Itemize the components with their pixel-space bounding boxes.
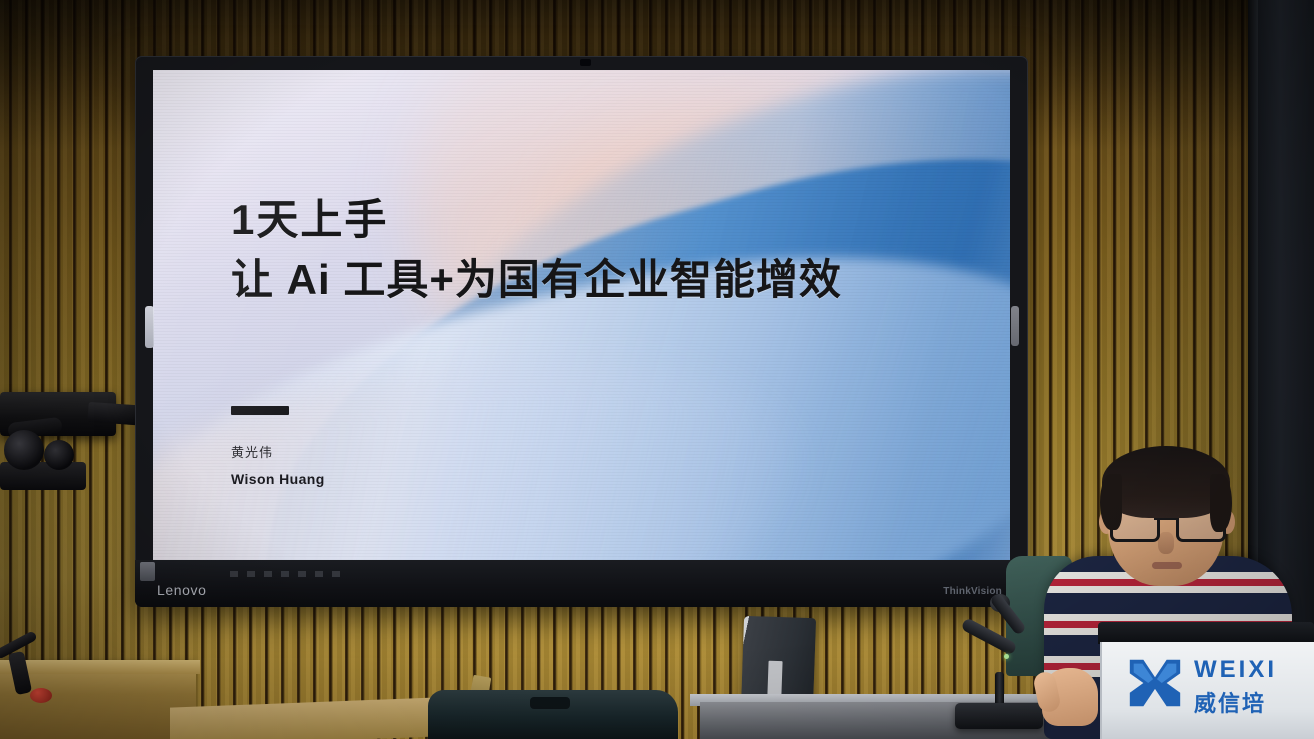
slide-title-line1: 1天上手 bbox=[231, 198, 971, 243]
laptop-brand-latin: WEIXI bbox=[1194, 656, 1277, 684]
weixin-w-logo-icon bbox=[1124, 652, 1186, 714]
presenter-hair-side-right bbox=[1210, 474, 1232, 532]
shirt-stripe bbox=[1044, 586, 1292, 593]
slide-title-block: 1天上手 让 Ai 工具+为国有企业智能增效 bbox=[231, 198, 971, 304]
microphone-base[interactable] bbox=[955, 703, 1043, 729]
slide-byline: 黄光伟 Wison Huang bbox=[231, 442, 325, 487]
presenter-name-en: Wison Huang bbox=[231, 471, 325, 487]
display-screen: 1天上手 让 Ai 工具+为国有企业智能增效 黄光伟 Wison Huang bbox=[153, 70, 1010, 560]
podium-surface bbox=[0, 660, 200, 674]
presentation-display: 1天上手 让 Ai 工具+为国有企业智能增效 黄光伟 Wison Huang L… bbox=[135, 56, 1028, 607]
microphone-status-led bbox=[1004, 654, 1009, 659]
slide-canvas: 1天上手 让 Ai 工具+为国有企业智能增效 黄光伟 Wison Huang bbox=[153, 70, 1010, 560]
display-side-button[interactable] bbox=[145, 306, 154, 348]
presenter-mouth bbox=[1152, 562, 1182, 569]
laptop-brand-cn: 威信培 bbox=[1194, 686, 1266, 718]
shirt-stripe bbox=[1044, 614, 1292, 621]
podium-front bbox=[0, 664, 196, 739]
branded-laptop[interactable]: WEIXI 威信培 bbox=[1098, 622, 1314, 739]
laptop-sticker bbox=[767, 661, 782, 695]
lenovo-brand-label: Lenovo bbox=[157, 582, 207, 598]
slide-title-line2: 让 Ai 工具+为国有企业智能增效 bbox=[231, 255, 971, 305]
screenshot-root: 1天上手 让 Ai 工具+为国有企业智能增效 黄光伟 Wison Huang L… bbox=[0, 0, 1314, 739]
display-control-buttons[interactable] bbox=[230, 571, 340, 577]
presenter-name-cn: 黄光伟 bbox=[231, 442, 325, 461]
camera-lens-icon bbox=[4, 430, 44, 470]
laptop-top-edge bbox=[1098, 622, 1314, 644]
display-side-button-right[interactable] bbox=[1011, 306, 1019, 346]
camera-lens-secondary-icon bbox=[44, 440, 74, 470]
lenovo-badge-icon bbox=[140, 562, 155, 581]
webcam-icon bbox=[580, 59, 591, 66]
presenter-hair-side-left bbox=[1100, 474, 1122, 530]
slide-divider-bar bbox=[231, 406, 289, 415]
backpack-handle bbox=[530, 697, 570, 709]
red-knob-object bbox=[30, 688, 52, 703]
laptop-branding-panel: WEIXI 威信培 bbox=[1100, 642, 1314, 739]
display-bottom-bezel: Lenovo ThinkVision bbox=[135, 560, 1028, 607]
